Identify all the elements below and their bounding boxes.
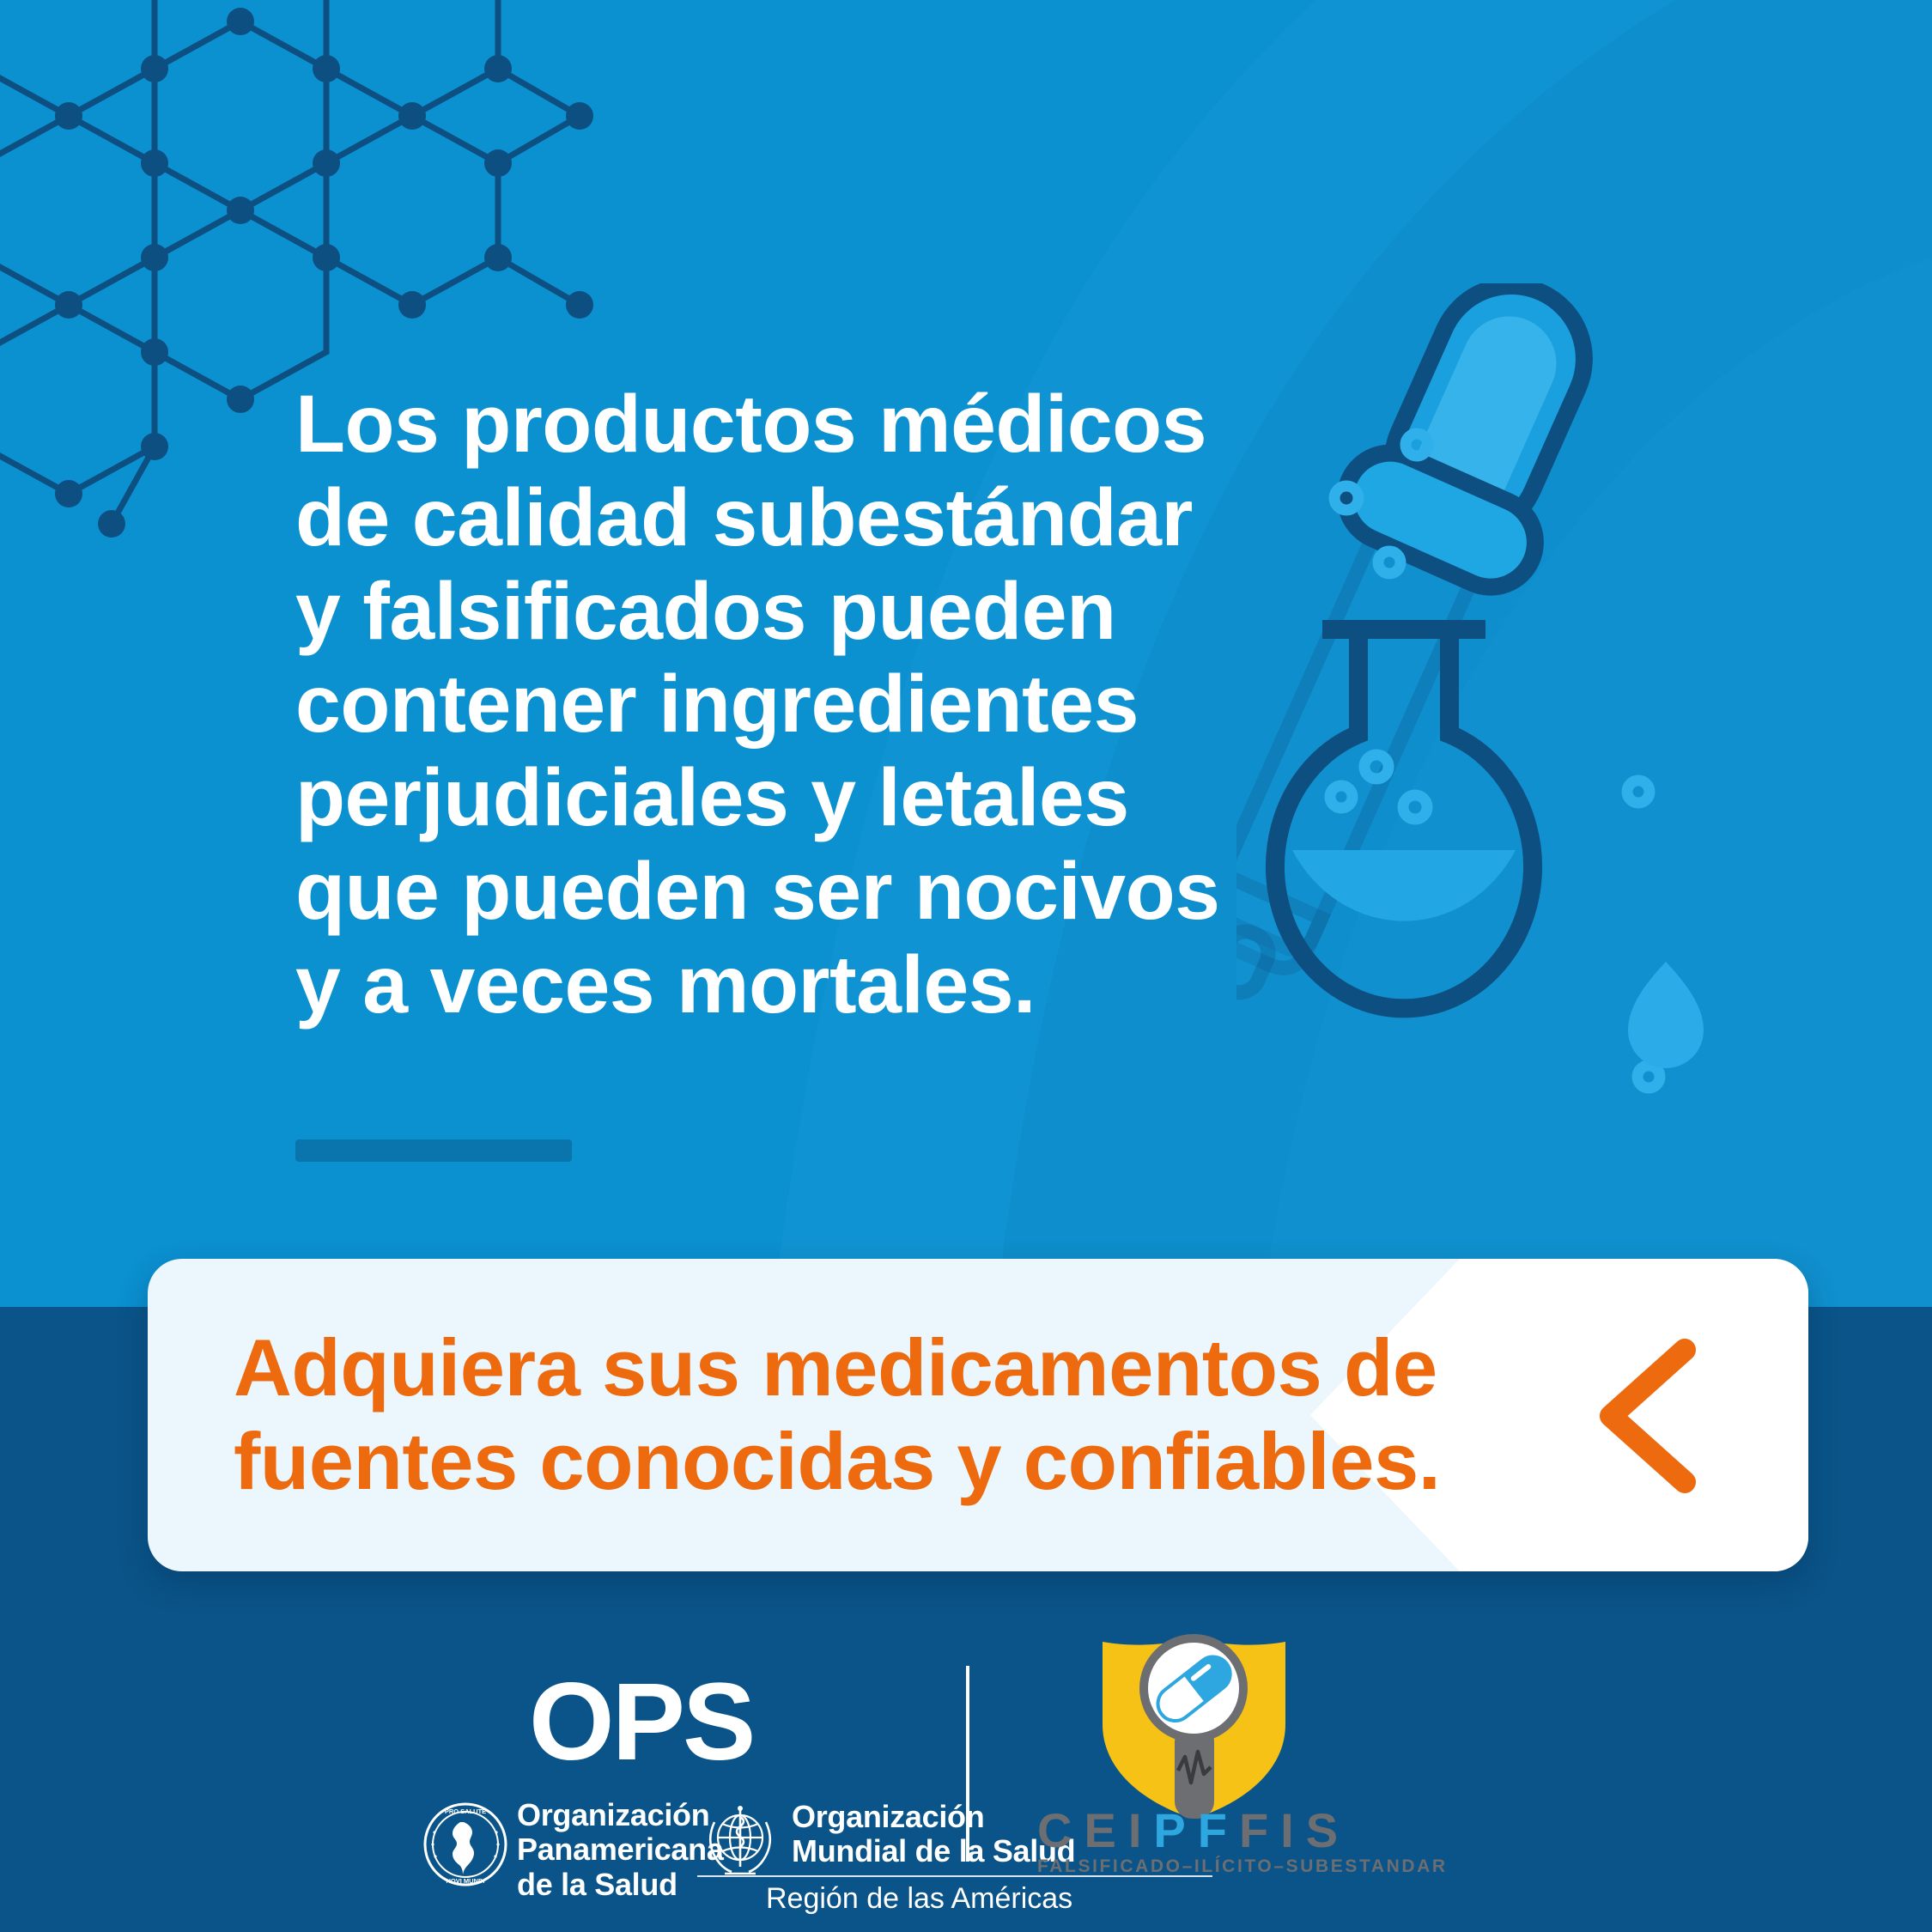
lab-illustration [1236,283,1932,1254]
headline-line-2: de calidad subestándar [295,471,1257,565]
banner-line-2: fuentes conocidas y confiables. [234,1414,1504,1508]
ceipffis-letter-s: S [1306,1803,1350,1857]
infographic-poster: Los productos médicos de calidad subestá… [0,0,1932,1932]
who-name-line-2: Mundial de la Salud [792,1834,1075,1868]
ceipffis-tagline: FALSIFICADO–ILÍCITO–SUBESTANDAR [1037,1856,1346,1877]
ceipffis-letter-i2: I [1280,1803,1306,1857]
chevron-left-icon [1571,1334,1735,1498]
paho-name: Organización Panamericana de la Salud [517,1798,724,1902]
ceipffis-letter-p: P [1153,1803,1197,1857]
call-to-action-banner: Adquiera sus medicamentos de fuentes con… [148,1259,1808,1571]
ceipffis-logo: CEIPFFIS FALSIFICADO–ILÍCITO–SUBESTANDAR [1037,1623,1346,1880]
headline-line-7: y a veces mortales. [295,939,1257,1032]
page-title: Los productos médicos de calidad subestá… [295,378,1257,1031]
headline-line-5: perjudiciales y letales [295,751,1257,845]
droplet-icon [1628,962,1704,1068]
headline-line-1: Los productos médicos [295,378,1257,471]
organization-names-row: PRO SALUTE NOVI MUNDI Organización Panam… [422,1796,955,1908]
ceipffis-letter-f1: F [1198,1803,1239,1857]
paho-name-line-1: Organización [517,1798,724,1832]
who-name: Organización Mundial de la Salud [792,1800,1075,1869]
ceipffis-letter-f2: F [1239,1803,1280,1857]
paho-emblem-icon: PRO SALUTE NOVI MUNDI [422,1801,508,1887]
headline-line-6: que pueden ser nocivos [295,845,1257,939]
paho-emblem-top-text: PRO SALUTE [445,1807,486,1815]
ceipffis-letter-e: E [1084,1803,1127,1857]
paho-name-line-3: de la Salud [517,1868,724,1902]
paho-emblem-bottom-text: NOVI MUNDI [447,1877,485,1885]
title-underline-rule [295,1139,572,1162]
footer-logos: OPS PRO SALUTE NOVI MUNDI [0,1614,1932,1932]
ceipffis-wordmark: CEIPFFIS [1037,1807,1346,1855]
headline-line-4: contener ingredientes [295,658,1257,751]
headline-line-3: y falsificados pueden [295,565,1257,659]
banner-message: Adquiera sus medicamentos de fuentes con… [234,1321,1504,1508]
who-region-label: Región de las Américas [766,1882,1072,1916]
shield-icon [1089,1623,1299,1820]
logo-divider [966,1666,969,1862]
ceipffis-letter-i: I [1128,1803,1154,1857]
paho-logo: OPS PRO SALUTE NOVI MUNDI [422,1668,955,1899]
who-name-line-1: Organización [792,1800,1075,1834]
ops-acronym: OPS [529,1668,753,1777]
ceipffis-letter-c: C [1037,1803,1084,1857]
banner-line-1: Adquiera sus medicamentos de [234,1321,1504,1414]
eyedropper-icon [1236,283,1632,1031]
paho-name-line-2: Panamericana [517,1832,724,1867]
